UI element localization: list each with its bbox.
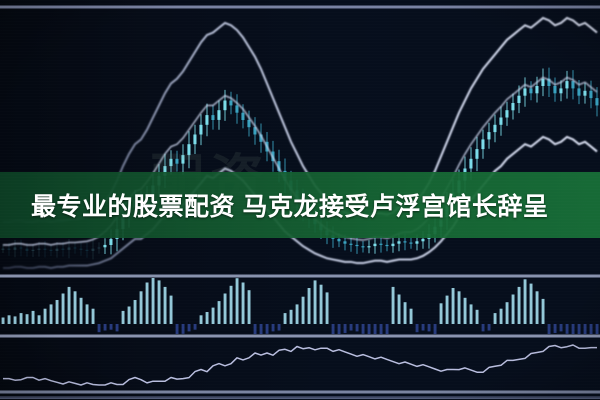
headline-text: 最专业的股票配资 马克龙接受卢浮宫馆长辞呈 [31, 187, 548, 223]
volume-bar-series [2, 278, 599, 334]
headline-banner: 最专业的股票配资 马克龙接受卢浮宫馆长辞呈 [0, 172, 600, 238]
oscillator-chart-panel [0, 338, 600, 390]
oscillator-line [3, 345, 597, 385]
screenshot-root: 配资 最专业的股票配资 马克龙接受卢浮宫馆长辞呈 [0, 0, 600, 400]
volume-chart-svg [0, 278, 600, 334]
volume-chart-panel [0, 278, 600, 334]
oscillator-chart-svg [0, 338, 600, 390]
